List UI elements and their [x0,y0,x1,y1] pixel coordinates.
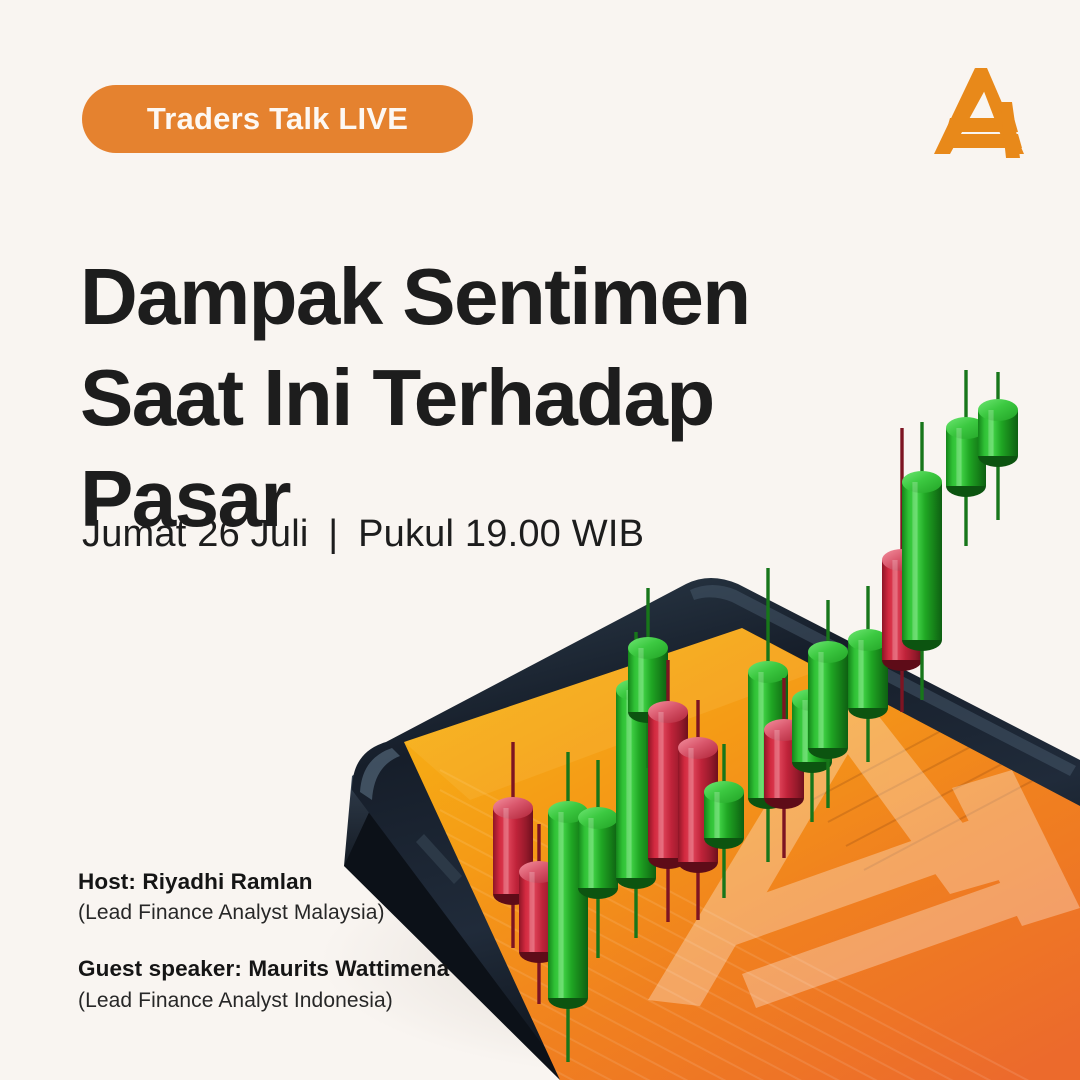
candle-body [628,648,668,712]
candle-3-up [578,760,618,958]
candle-bottom-cap [493,883,533,905]
candle-top-cap [493,797,533,819]
speaker-credits: Host: Riyadhi Ramlan (Lead Finance Analy… [78,868,449,1015]
candle-5-up [628,588,668,768]
candle-bottom-cap [978,445,1018,467]
candle-4-up [616,632,656,938]
candle-body [978,410,1018,456]
candle-12-up [808,600,848,808]
candle-highlight [858,640,863,708]
candle-highlight [912,482,917,640]
candle-top-cap [648,701,688,723]
candle-bottom-cap [848,697,888,719]
candle-highlight [588,818,593,888]
screen-scanlines [440,770,1080,1080]
candle-6-down [648,660,688,922]
candle-highlight [802,700,807,762]
candle-body [748,672,788,798]
schedule-separator: | [319,513,347,556]
schedule-line: Jumat 26 Juli | Pukul 19.00 WIB [82,513,644,556]
candle-body [616,690,656,878]
screen-watermark-logo [648,700,1080,1008]
candle-bottom-cap [946,475,986,497]
candle-body [493,808,533,894]
candle-10-down [764,678,804,858]
phone-bezel [352,578,1080,1052]
candle-body [902,482,942,640]
candle-bottom-cap [628,701,668,723]
candle-bottom-cap [748,787,788,809]
candle-bottom-cap [519,941,559,963]
headline-line-2: Saat Ini Terhadap [80,347,800,448]
candle-top-cap [748,661,788,683]
candle-body [548,812,588,998]
candle-bottom-cap [704,827,744,849]
candle-11-up [792,650,832,822]
candle-top-cap [704,781,744,803]
candle-body [704,792,744,838]
candle-highlight [529,872,534,952]
candle-body [882,560,922,660]
candle-body [519,872,559,952]
candle-body [648,712,688,858]
candle-top-cap [978,399,1018,421]
candle-top-cap [902,471,942,493]
candle-16-up [946,370,986,546]
candle-17-up [978,372,1018,520]
candle-1-down [519,824,559,1004]
credit-host: Host: Riyadhi Ramlan (Lead Finance Analy… [78,868,449,927]
candle-bottom-cap [808,737,848,759]
candle-body [848,640,888,708]
credit-host-name: Host: Riyadhi Ramlan [78,868,449,896]
candle-9-up [748,568,788,862]
candle-highlight [658,712,663,858]
candle-2-up [548,752,588,1062]
candle-highlight [988,410,993,456]
candle-top-cap [616,679,656,701]
candle-body [792,700,832,762]
candle-highlight [956,428,961,486]
candle-top-cap [519,861,559,883]
candle-0-down [493,742,533,948]
candle-bottom-cap [548,987,588,1009]
phone-bezel-highlight [360,748,400,800]
candle-bottom-cap [902,629,942,651]
candle-highlight [558,812,563,998]
candle-8-up [704,744,744,898]
phone-side-left [344,760,392,880]
candle-top-cap [578,807,618,829]
phone-speaker-slit [518,742,572,766]
page-title: Dampak Sentimen Saat Ini Terhadap Pasar [80,246,800,549]
screen-ray-lines [812,710,1068,870]
candle-highlight [892,560,897,660]
candle-bottom-cap [792,751,832,773]
candle-highlight [688,748,693,862]
candle-top-cap [548,801,588,823]
candle-highlight [503,808,508,894]
candle-body [578,818,618,888]
candle-top-cap [628,637,668,659]
candle-highlight [818,652,823,748]
candle-body [808,652,848,748]
candle-top-cap [848,629,888,651]
candle-7-down [678,700,718,920]
candle-body [946,428,986,486]
phone-bezel-edge-top [690,585,1076,776]
credit-guest-name: Guest speaker: Maurits Wattimena [78,955,449,983]
schedule-date: Jumat 26 Juli [82,513,308,555]
candle-bottom-cap [678,851,718,873]
candle-top-cap [764,719,804,741]
phone-screen [404,620,1080,1080]
candle-highlight [758,672,763,798]
smartphone [344,578,1080,1080]
candle-top-cap [946,417,986,439]
candle-15-up [902,422,942,700]
screen-glow [404,628,820,800]
candle-highlight [714,792,719,838]
candle-bottom-cap [882,649,922,671]
poster-canvas: Traders Talk LIVE Dampak Sentimen Saat I… [0,0,1080,1080]
live-badge-label: Traders Talk LIVE [147,101,408,137]
candle-13-up [848,586,888,762]
candle-bottom-cap [616,867,656,889]
candle-top-cap [808,641,848,663]
brand-logo-a-icon [928,62,1030,162]
schedule-time: Pukul 19.00 WIB [358,513,644,555]
credit-host-role: (Lead Finance Analyst Malaysia) [78,899,449,927]
candle-top-cap [882,549,922,571]
candle-14-down [882,428,922,712]
candle-bottom-cap [648,847,688,869]
candle-top-cap [792,689,832,711]
candle-body [678,748,718,862]
candle-highlight [774,730,779,798]
headline-line-1: Dampak Sentimen [80,246,800,347]
credit-guest-role: (Lead Finance Analyst Indonesia) [78,987,449,1015]
candle-body [764,730,804,798]
candle-highlight [638,648,643,712]
live-badge[interactable]: Traders Talk LIVE [82,85,473,153]
candle-highlight [626,690,631,878]
candle-bottom-cap [764,787,804,809]
candle-top-cap [678,737,718,759]
phone-thickness [344,806,1080,1080]
candle-bottom-cap [578,877,618,899]
credit-guest: Guest speaker: Maurits Wattimena (Lead F… [78,955,449,1014]
